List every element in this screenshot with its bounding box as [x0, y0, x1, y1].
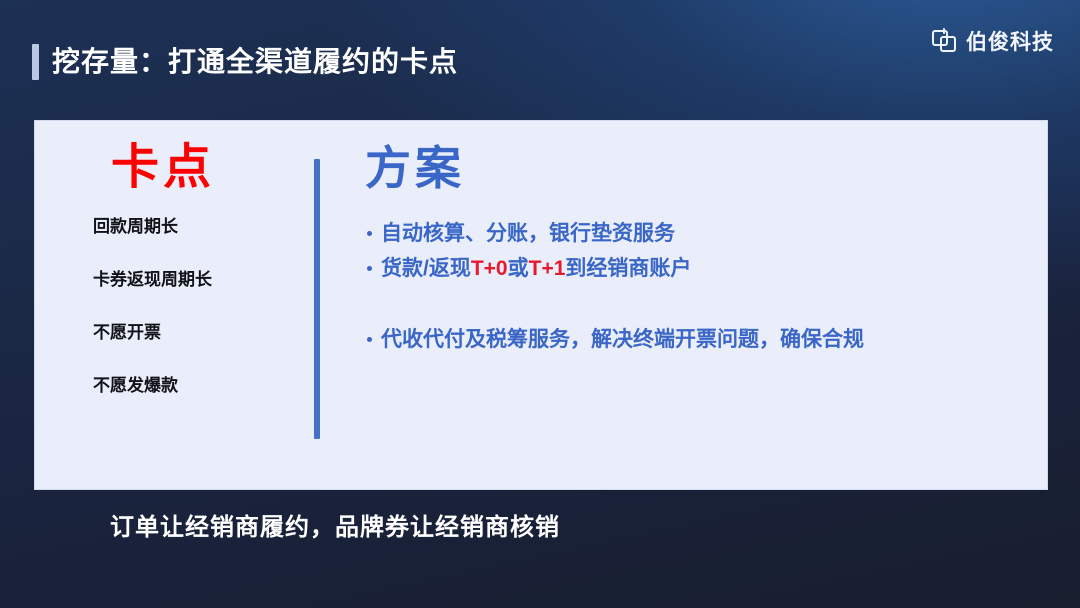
highlight-text: T+0	[471, 257, 508, 280]
slide-header: 挖存量：打通全渠道履约的卡点 伯俊科技	[0, 0, 1080, 110]
slide-root: 挖存量：打通全渠道履约的卡点 伯俊科技 卡点 回款周期长卡券返现周期长不愿开票不…	[0, 0, 1080, 608]
pain-points-list: 回款周期长卡券返现周期长不愿开票不愿发爆款	[93, 215, 303, 398]
pain-points-column: 卡点 回款周期长卡券返现周期长不愿开票不愿发爆款	[93, 139, 303, 427]
text-run: 货款/返现	[381, 257, 471, 280]
column-divider	[314, 159, 320, 439]
footer-caption: 订单让经销商履约，品牌券让经销商核销	[110, 510, 1080, 546]
solutions-column: 方案 自动核算、分账，银行垫资服务货款/返现T+0或T+1到经销商账户代收代付及…	[365, 139, 1005, 358]
bullet-dot-icon	[367, 337, 372, 342]
list-item: 货款/返现T+0或T+1到经销商账户	[365, 252, 1005, 285]
page-title: 挖存量：打通全渠道履约的卡点	[52, 42, 458, 82]
list-item: 回款周期长	[93, 215, 303, 239]
pain-points-heading: 卡点	[111, 139, 303, 197]
list-item: 不愿发爆款	[93, 374, 303, 398]
bullet-dot-icon	[367, 266, 372, 271]
text-run: 到经销商账户	[565, 257, 691, 280]
list-item: 卡券返现周期长	[93, 268, 303, 292]
list-item: 代收代付及税筹服务，解决终端开票问题，确保合规	[365, 323, 1005, 356]
highlight-text: T+1	[529, 257, 566, 280]
slide-footer: 订单让经销商履约，品牌券让经销商核销	[0, 510, 1080, 546]
text-run: 或	[508, 257, 529, 280]
brand-name: 伯俊科技	[966, 26, 1054, 56]
overlapping-squares-logo-icon	[932, 28, 958, 54]
list-item: 不愿开票	[93, 321, 303, 345]
text-run: 自动核算、分账，银行垫资服务	[381, 222, 675, 245]
solutions-list: 自动核算、分账，银行垫资服务货款/返现T+0或T+1到经销商账户代收代付及税筹服…	[365, 217, 1005, 356]
content-card: 卡点 回款周期长卡券返现周期长不愿开票不愿发爆款 方案 自动核算、分账，银行垫资…	[34, 120, 1048, 490]
list-item: 自动核算、分账，银行垫资服务	[365, 217, 1005, 250]
text-run: 代收代付及税筹服务，解决终端开票问题，确保合规	[381, 328, 864, 351]
brand-logo: 伯俊科技	[932, 26, 1054, 56]
bullet-dot-icon	[367, 231, 372, 236]
solutions-heading: 方案	[365, 139, 1005, 197]
title-accent-bar	[32, 44, 39, 80]
